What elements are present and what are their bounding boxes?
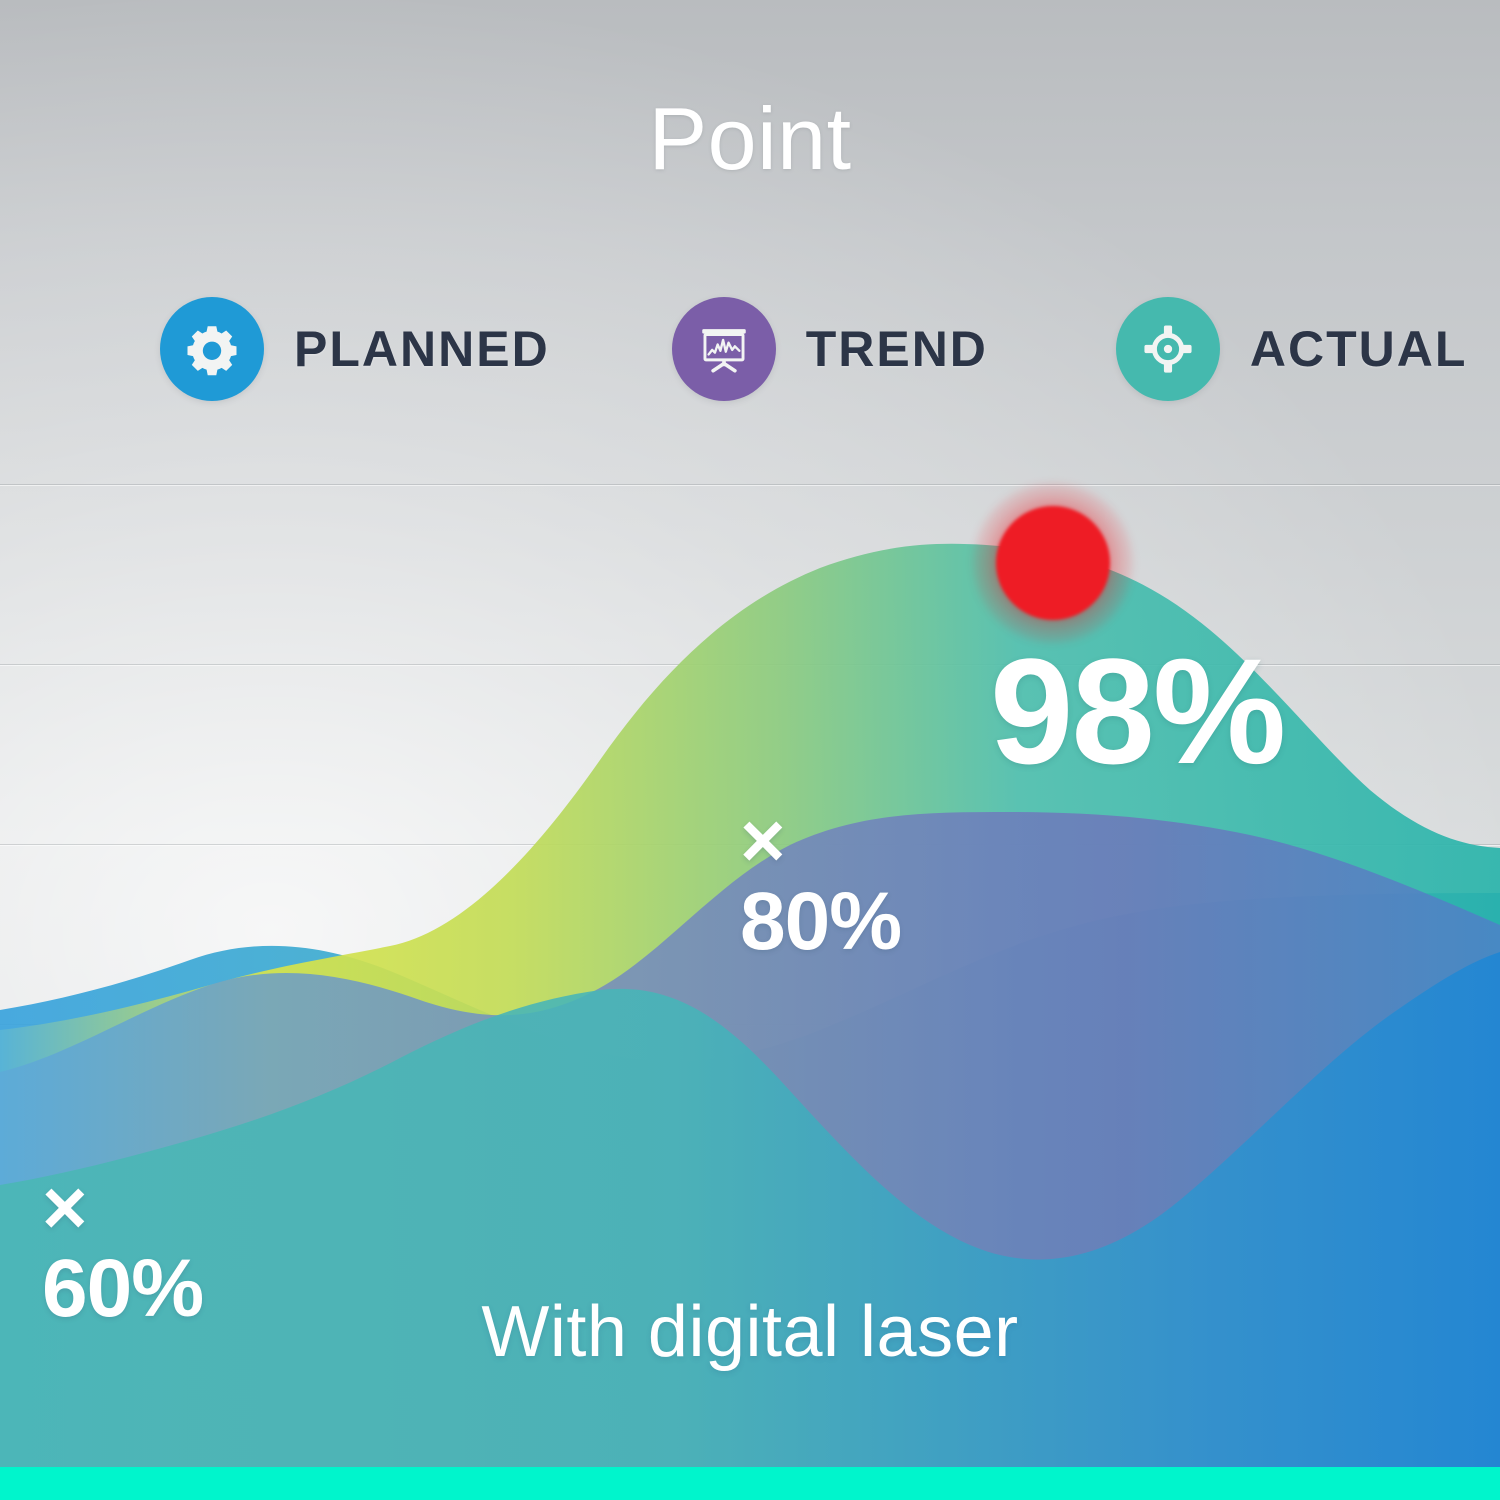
callout-actual-value: 98% xyxy=(990,636,1284,786)
cross-marker-trend: × xyxy=(740,805,901,875)
presentation-chart-icon xyxy=(672,297,776,401)
laser-dot-marker[interactable] xyxy=(996,506,1110,620)
callout-trend-value: 80% xyxy=(740,879,901,965)
crosshair-target-icon xyxy=(1116,297,1220,401)
cross-marker-planned: × xyxy=(42,1172,203,1242)
page-title: Point xyxy=(0,95,1500,183)
legend-item-actual[interactable]: ACTUAL xyxy=(1116,297,1468,401)
callout-trend: × 80% xyxy=(740,805,901,965)
legend-label-actual: ACTUAL xyxy=(1250,320,1468,378)
legend-label-planned: PLANNED xyxy=(294,320,550,378)
infographic-canvas: Point PLANNED TREND xyxy=(0,0,1500,1500)
legend-item-planned[interactable]: PLANNED xyxy=(160,297,550,401)
legend-item-trend[interactable]: TREND xyxy=(672,297,988,401)
bottom-accent-bar xyxy=(0,1467,1500,1500)
caption-text: With digital laser xyxy=(0,1296,1500,1368)
gear-icon xyxy=(160,297,264,401)
legend-label-trend: TREND xyxy=(806,320,988,378)
legend: PLANNED TREND xyxy=(160,297,1380,401)
